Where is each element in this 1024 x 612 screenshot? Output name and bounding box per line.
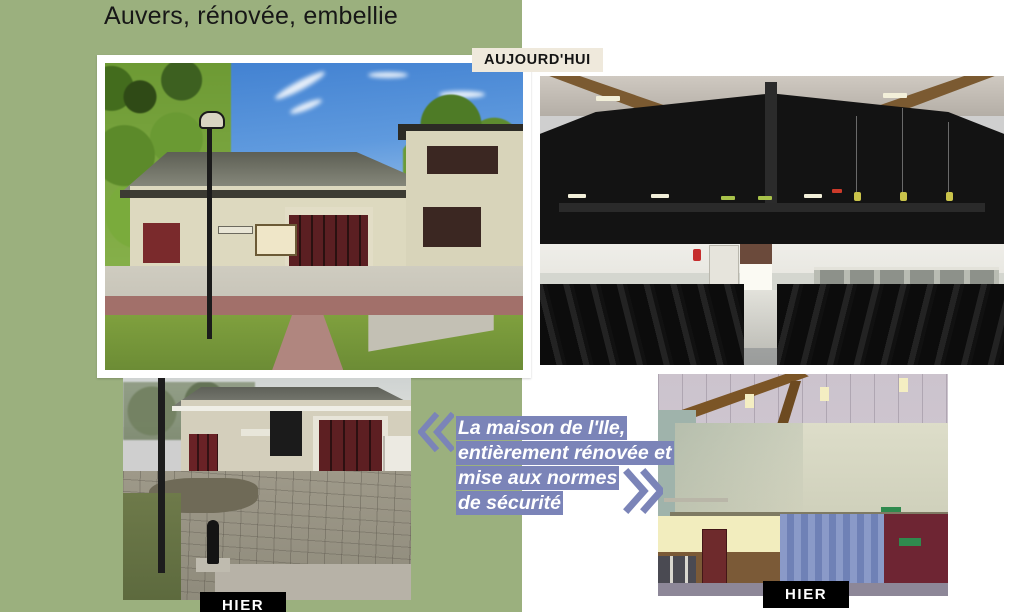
quote-close-chevron-icon xyxy=(623,468,663,514)
page-title: Auvers, rénovée, embellie xyxy=(104,2,398,31)
badge-aujourdhui: AUJOURD'HUI xyxy=(472,48,603,72)
quote-line-2: entièrement rénovée et xyxy=(456,441,674,465)
quote-open-chevron-icon xyxy=(418,412,454,452)
badge-hier-left: HIER xyxy=(200,592,286,612)
badge-hier-right: HIER xyxy=(763,581,849,608)
photo-frame-yesterday-interior xyxy=(658,374,948,596)
quote-line-1: La maison de l'Ile, xyxy=(456,416,627,440)
photo-today-interior xyxy=(540,76,1004,365)
photo-frame-today-interior xyxy=(540,76,1004,365)
photo-yesterday-exterior xyxy=(123,378,411,600)
page-canvas: Auvers, rénovée, embellie xyxy=(0,0,1024,612)
quote-line-3: mise aux normes xyxy=(456,466,619,490)
photo-today-exterior xyxy=(105,63,523,370)
photo-yesterday-interior xyxy=(658,374,948,596)
photo-frame-today-exterior xyxy=(97,55,531,378)
quote-line-4: de sécurité xyxy=(456,491,563,515)
pull-quote: La maison de l'Ile, entièrement rénovée … xyxy=(418,406,686,536)
photo-frame-yesterday-exterior xyxy=(123,378,411,600)
